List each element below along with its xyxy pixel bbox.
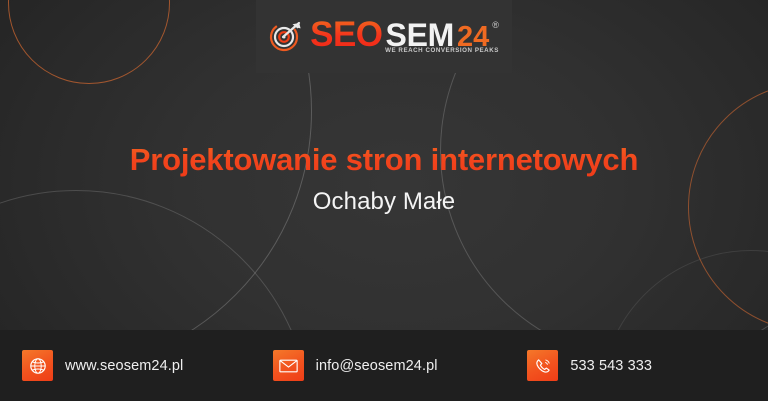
globe-icon <box>22 350 53 381</box>
logo-text-seo: SEO <box>310 17 382 52</box>
page-title: Projektowanie stron internetowych <box>0 143 768 178</box>
logo-plate: SEO SEM 24 ® WE REACH CONVERSION PEAKS <box>256 0 512 73</box>
contact-label-website: www.seosem24.pl <box>65 358 183 374</box>
decorative-circle-orange-top-left <box>8 0 170 84</box>
page-subtitle: Ochaby Małe <box>0 188 768 216</box>
envelope-icon <box>273 350 304 381</box>
contact-item-website[interactable]: www.seosem24.pl <box>0 350 263 381</box>
logo-tagline: WE REACH CONVERSION PEAKS <box>385 47 499 54</box>
brand-logo[interactable]: SEO SEM 24 ® WE REACH CONVERSION PEAKS <box>269 17 499 52</box>
contact-label-email: info@seosem24.pl <box>316 358 438 374</box>
contact-label-phone: 533 543 333 <box>570 358 652 374</box>
seo-banner: SEO SEM 24 ® WE REACH CONVERSION PEAKS P… <box>0 0 768 401</box>
contact-bar: www.seosem24.pl info@seosem24.pl 533 543… <box>0 330 768 401</box>
target-dart-icon <box>269 18 303 52</box>
contact-item-email[interactable]: info@seosem24.pl <box>263 350 514 381</box>
headline-block: Projektowanie stron internetowych Ochaby… <box>0 143 768 216</box>
logo-wordmark: SEO SEM 24 ® WE REACH CONVERSION PEAKS <box>310 17 499 52</box>
contact-item-phone[interactable]: 533 543 333 <box>513 350 768 381</box>
phone-icon <box>527 350 558 381</box>
registered-trademark-icon: ® <box>492 21 499 30</box>
